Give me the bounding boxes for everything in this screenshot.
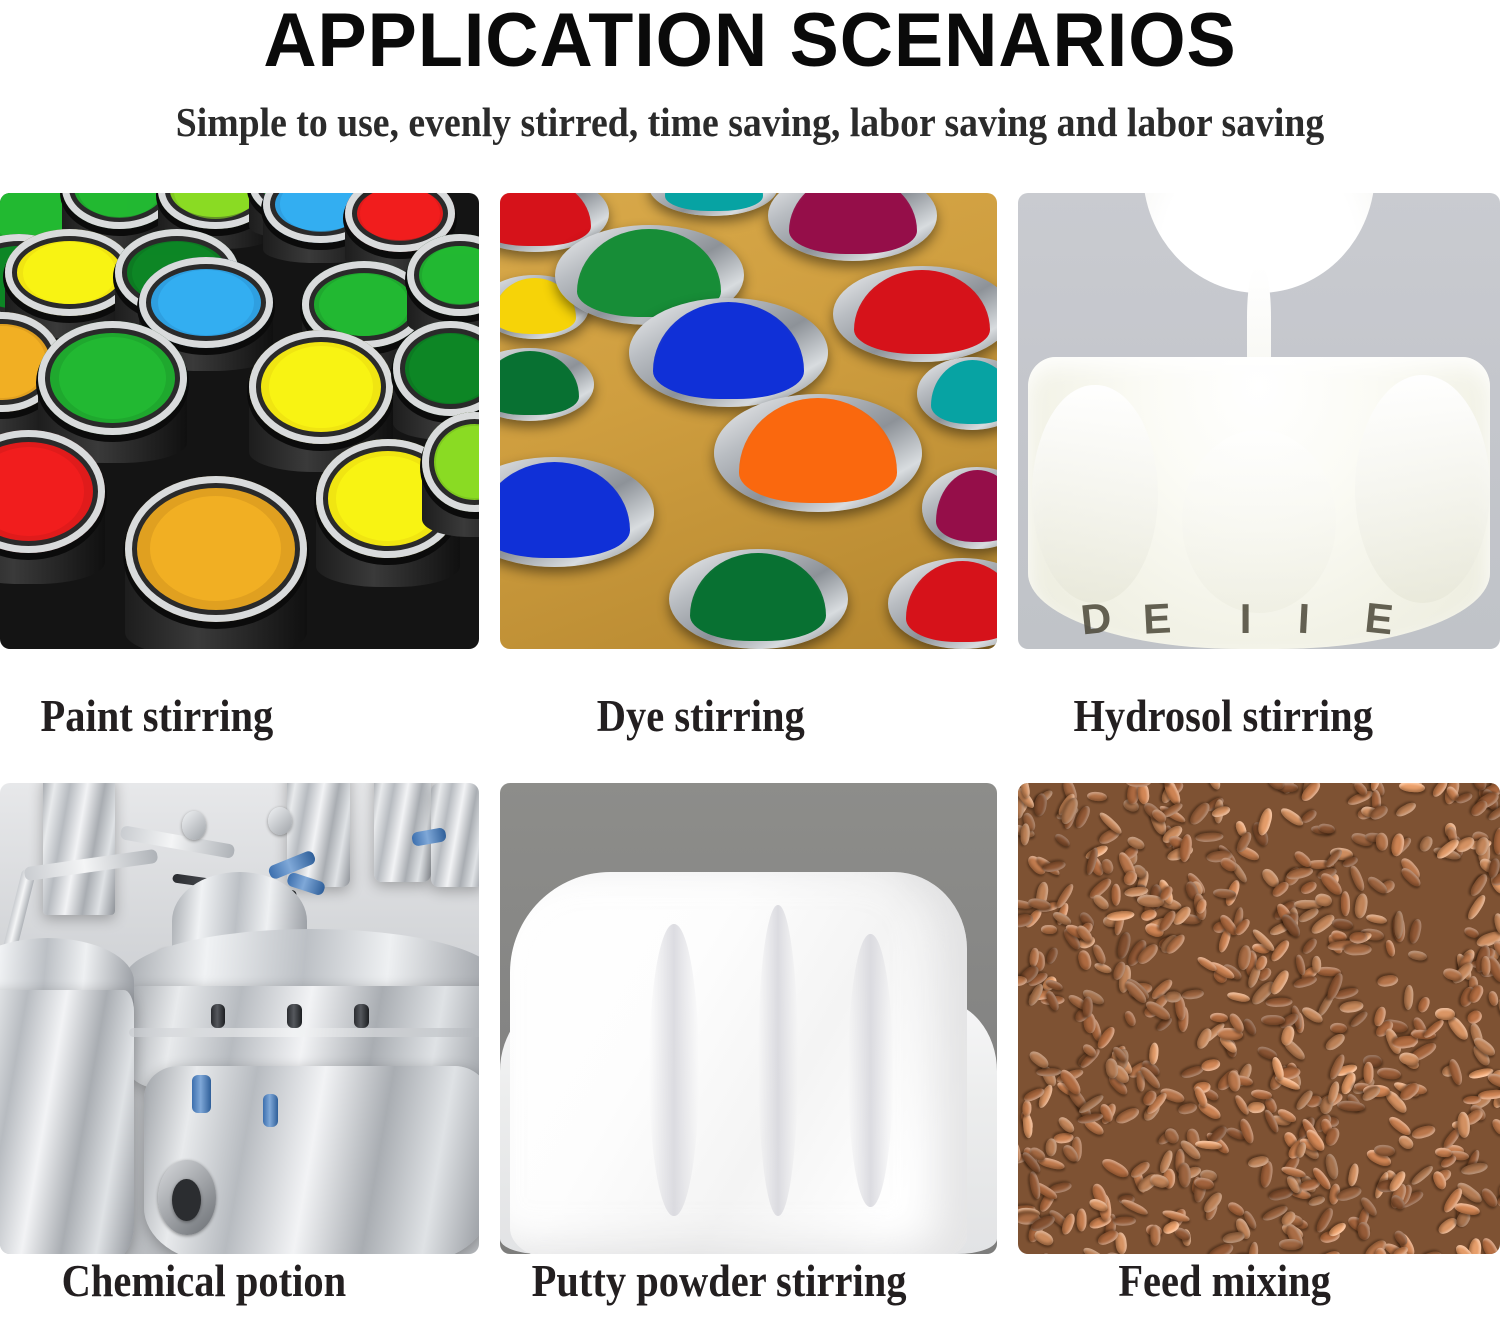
feed-pellet (1100, 1156, 1131, 1180)
scenario-image-dye-stirring (500, 193, 997, 649)
feed-pellet (1343, 943, 1371, 955)
feed-pellet (1053, 832, 1071, 849)
page-subtitle: Simple to use, evenly stirred, time savi… (60, 80, 1440, 144)
feed-pellet (1331, 917, 1354, 931)
blue-label (263, 1094, 277, 1127)
feed-pellet (1394, 910, 1404, 938)
scenario-caption-paint-stirring: Paint stirring (0, 649, 440, 783)
feed-pellet (1086, 791, 1107, 802)
putty-photo (500, 783, 997, 1254)
blue-label (192, 1075, 211, 1113)
feed-pellet (1027, 897, 1051, 911)
feed-pellet (1368, 803, 1390, 822)
dye-bowl (922, 467, 997, 549)
feed-pellet (1076, 1209, 1086, 1232)
feed-pellet (1188, 800, 1214, 827)
dye-powder-photo (500, 193, 997, 649)
feed-pellet (1416, 995, 1431, 1014)
feed-pellet (1407, 949, 1427, 961)
page-title: APPLICATION SCENARIOS (23, 0, 1478, 80)
feed-pellet (1045, 946, 1060, 965)
bottom-outlet-port (172, 1179, 201, 1221)
paint-cans-photo (0, 193, 479, 649)
dye-mound (690, 553, 826, 641)
feed-pellet (1386, 1114, 1413, 1138)
feed-pellet (1447, 1058, 1465, 1087)
feed-pellet (1222, 1231, 1245, 1244)
feed-pellet (1035, 1067, 1061, 1076)
scenario-caption-feed-mixing: Feed mixing (1018, 1254, 1442, 1328)
chemical-reactor-photo (0, 783, 479, 1254)
dye-bowl (888, 558, 997, 649)
feed-pellet (1181, 988, 1204, 1000)
dye-bowl (917, 357, 997, 430)
dye-mound (906, 561, 997, 641)
header: APPLICATION SCENARIOS Simple to use, eve… (0, 0, 1500, 144)
feed-pellet (1486, 1071, 1500, 1090)
feed-pellet (1018, 913, 1034, 929)
scenario-caption-chemical-potion: Chemical potion (0, 1254, 440, 1328)
feed-pellet (1285, 866, 1314, 881)
feed-pellet (1200, 1058, 1221, 1073)
feed-pellet (1409, 1163, 1435, 1186)
bag-letter: I (1240, 598, 1252, 640)
feed-pellet (1178, 1102, 1199, 1116)
feed-pellet (1463, 925, 1480, 939)
feed-pellet (1022, 1113, 1033, 1139)
feed-pellet (1384, 939, 1396, 957)
feed-pellet (1467, 872, 1490, 899)
feed-pellet (1404, 985, 1415, 1011)
dye-bowl (669, 549, 848, 649)
scenario-image-paint-stirring (0, 193, 479, 649)
feed-pellet (1460, 1162, 1488, 1177)
feed-pellet (1226, 991, 1250, 1004)
dye-mound (739, 398, 898, 502)
feed-pellet (1365, 913, 1387, 925)
putty-paste-mass (510, 872, 967, 1254)
feed-pellet (1266, 997, 1293, 1007)
feed-pellet (1246, 1241, 1259, 1254)
feed-pellet (1209, 1012, 1227, 1023)
feed-pellet (1033, 792, 1048, 817)
dye-bowl (500, 348, 594, 421)
feed-pellet (1390, 832, 1406, 857)
putty-crease-a (649, 924, 699, 1216)
reactor-vessel-left-body (0, 990, 134, 1254)
feed-pellet (1148, 1043, 1159, 1065)
lifting-lug (268, 807, 292, 835)
paint-can (249, 330, 393, 444)
feed-pellet (1205, 783, 1223, 792)
feed-pellet (1349, 932, 1368, 944)
feed-pellet (1111, 883, 1121, 905)
dye-mound (854, 270, 990, 354)
feed-pellet (1394, 800, 1418, 819)
feed-pellet (1337, 1100, 1366, 1112)
feed-pellet (1340, 891, 1350, 916)
hydrosol-photo: DEIIE (1018, 193, 1500, 649)
feed-pellet (1054, 1132, 1075, 1144)
feed-pellet (1041, 924, 1057, 933)
feed-pellet (1045, 1138, 1057, 1157)
feed-pellet (1082, 1245, 1108, 1254)
feed-pellet (1323, 1031, 1347, 1053)
feed-pellet (1247, 1101, 1264, 1113)
feed-pellet (1022, 1100, 1031, 1116)
bag-fold-left (1032, 385, 1157, 604)
feed-pellet (1349, 1010, 1370, 1030)
dye-bowl (629, 298, 828, 407)
feed-pellet (1077, 948, 1093, 970)
putty-crease-b (758, 905, 798, 1216)
dye-mound (931, 360, 997, 424)
feed-pellet (1364, 1062, 1374, 1084)
scenario-caption-dye-stirring: Dye stirring (500, 649, 956, 783)
feed-pellet (1349, 864, 1367, 892)
feed-pellet (1106, 910, 1135, 922)
feed-pellet (1294, 954, 1307, 977)
reactor-column (43, 783, 115, 915)
feed-pellet (1123, 1009, 1138, 1028)
feed-pellet (1487, 990, 1499, 1007)
scenario-caption-hydrosol-stirring: Hydrosol stirring (1018, 649, 1442, 783)
sight-glass (354, 1004, 368, 1028)
feed-pellet (1376, 1066, 1402, 1080)
feed-pellet (1377, 973, 1400, 988)
dye-mound (500, 462, 630, 558)
bag-letter: E (1363, 597, 1395, 642)
feed-pellet (1178, 1162, 1191, 1188)
scenario-image-chemical-potion (0, 783, 479, 1254)
sight-glass (287, 1004, 301, 1028)
feed-pellet (1113, 1217, 1136, 1227)
sight-glass (211, 1004, 225, 1028)
feed-pellet (1481, 956, 1491, 976)
feed-pellet (1091, 892, 1111, 911)
feed-pellet (1292, 974, 1318, 989)
feed-pellet-field (1018, 783, 1500, 1254)
feed-pellet (1091, 943, 1108, 966)
bag-letter: E (1142, 597, 1172, 640)
feed-pellet (1435, 1007, 1455, 1020)
dye-mound (653, 302, 804, 398)
feed-pellet (1466, 893, 1488, 921)
bag-fold-right (1355, 375, 1490, 603)
feed-pellet (1300, 937, 1318, 956)
bag-fold-center (1182, 430, 1336, 612)
feed-pellet (1490, 1117, 1500, 1138)
feed-pellets-photo (1018, 783, 1500, 1254)
bag-letter: I (1296, 598, 1310, 641)
feed-pellet (1375, 832, 1388, 851)
dye-mound (665, 193, 763, 211)
feed-pellet (1150, 1224, 1161, 1245)
feed-pellet (1346, 1163, 1359, 1187)
feed-pellet (1238, 1117, 1256, 1145)
dye-bowl (833, 266, 997, 362)
feed-pellet (1056, 1115, 1076, 1135)
dye-bowl (649, 193, 778, 216)
feed-pellet (1493, 828, 1500, 856)
feed-pellet (1114, 1105, 1141, 1126)
vessel-band (129, 1028, 479, 1037)
dye-mound (500, 351, 579, 415)
feed-pellet (1330, 1022, 1348, 1033)
dye-mound (936, 470, 997, 542)
reactor-column (287, 783, 349, 887)
feed-pellet (1479, 1235, 1500, 1254)
feed-pellet (1411, 1124, 1437, 1141)
scenario-grid: Paint stirring Dye stirring DEIIE Hydros… (0, 193, 1500, 1328)
dye-bowl (714, 394, 923, 513)
feed-pellet (1020, 823, 1030, 846)
dye-bowl (768, 193, 937, 261)
lifting-lug (182, 811, 206, 839)
paint-can (38, 321, 186, 435)
feed-pellet (1399, 783, 1425, 794)
dye-mound (789, 193, 917, 254)
bag-letter: D (1079, 596, 1114, 641)
feed-pellet (1408, 918, 1424, 945)
scenario-image-putty-powder-stirring (500, 783, 997, 1254)
feed-pellet (1279, 1238, 1303, 1250)
putty-crease-c (848, 934, 893, 1207)
feed-pellet (1356, 1221, 1371, 1241)
feed-pellet (1251, 1088, 1273, 1100)
scenario-caption-putty-powder-stirring: Putty powder stirring (500, 1254, 956, 1328)
paint-can (125, 476, 307, 622)
scenario-image-feed-mixing (1018, 783, 1500, 1254)
scenario-image-hydrosol-stirring: DEIIE (1018, 193, 1500, 649)
dye-mound (500, 193, 591, 246)
feed-pellet (1194, 832, 1223, 843)
dye-bowl (500, 457, 654, 566)
feed-pellet (1300, 808, 1319, 825)
